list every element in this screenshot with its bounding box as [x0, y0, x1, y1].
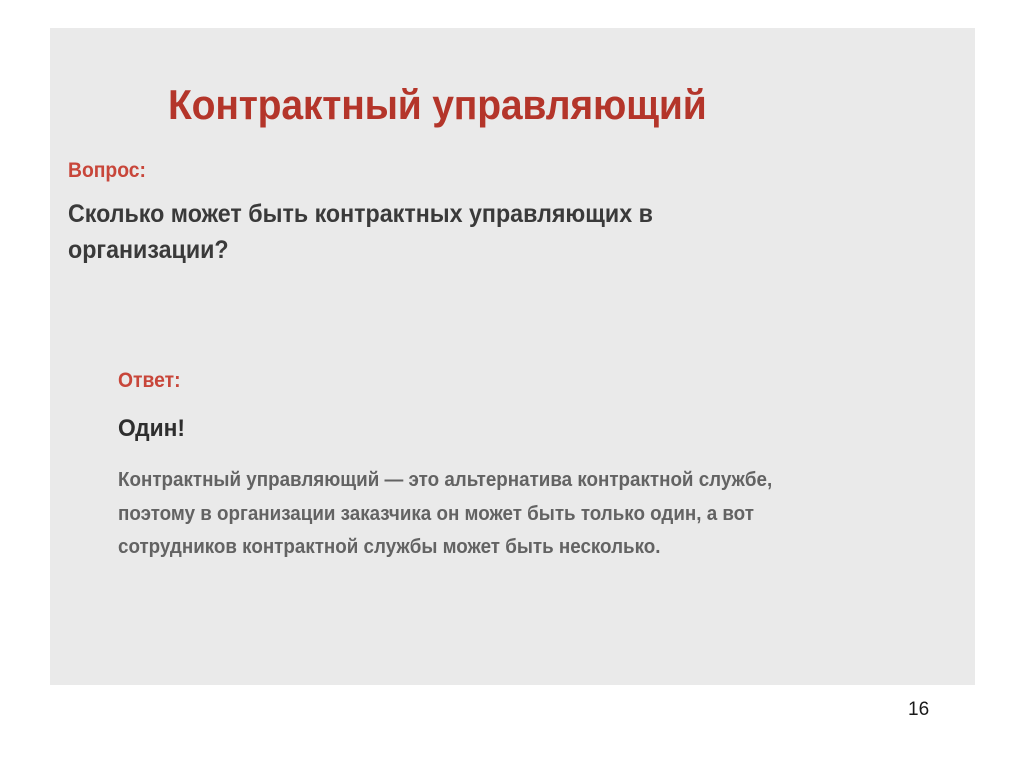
question-block: Вопрос: Сколько может быть контрактных у… [68, 158, 868, 268]
page-number: 16 [908, 700, 958, 719]
page-canvas: Контрактный управляющий Вопрос: Сколько … [0, 0, 1024, 767]
question-label: Вопрос: [68, 158, 804, 183]
question-text: Сколько может быть контрактных управляющ… [68, 197, 756, 268]
slide-panel: Контрактный управляющий Вопрос: Сколько … [50, 28, 975, 685]
answer-block: Ответ: Один! Контрактный управляющий — э… [118, 368, 908, 565]
slide-title: Контрактный управляющий [168, 83, 875, 127]
answer-body-text: Контрактный управляющий — это альтернати… [118, 464, 832, 565]
answer-label: Ответ: [118, 368, 845, 393]
answer-headline: Один! [118, 415, 869, 444]
